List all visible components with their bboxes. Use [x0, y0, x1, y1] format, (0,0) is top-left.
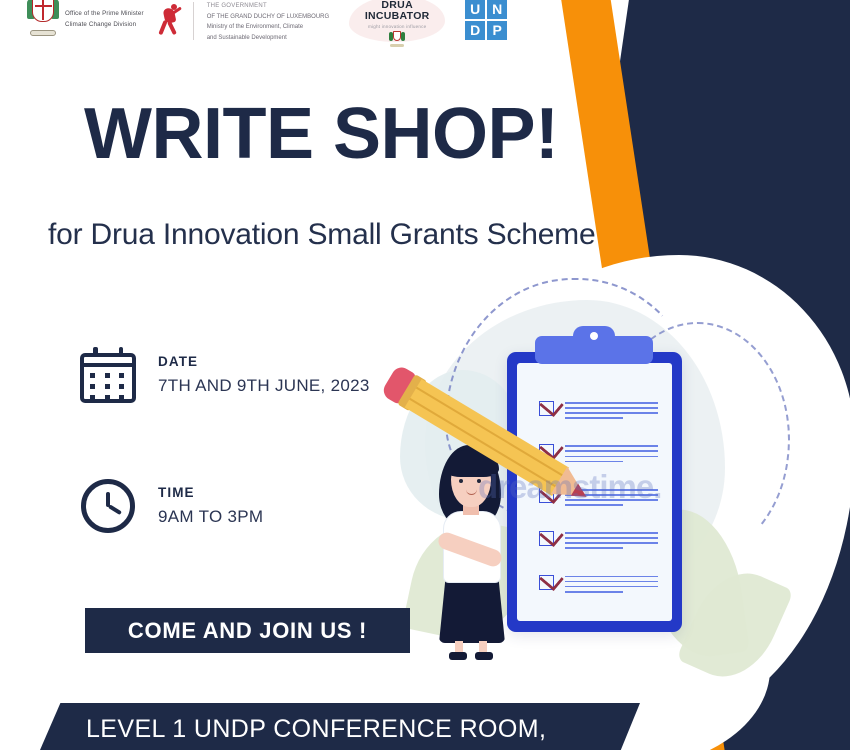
- list-item: [539, 401, 658, 422]
- detail-label-date: DATE: [158, 354, 370, 369]
- poster-canvas: Office of the Prime Minister Climate Cha…: [0, 0, 850, 750]
- undp-letter-grid: U N D P: [465, 0, 507, 40]
- logo-fiji-line2: Climate Change Division: [65, 20, 144, 31]
- logo-fiji-text: Office of the Prime Minister Climate Cha…: [65, 0, 144, 30]
- text-lines-placeholder: [565, 531, 658, 552]
- shoe-right: [475, 652, 493, 660]
- clipboard-clamp: [535, 336, 653, 364]
- logo-undp: U N D P: [465, 0, 507, 40]
- detail-value-time: 9AM TO 3PM: [158, 507, 263, 527]
- clipboard-checklist: [539, 401, 658, 618]
- undp-letter-u: U: [465, 0, 485, 19]
- logo-lux-line2: OF THE GRAND DUCHY OF LUXEMBOURG: [207, 12, 329, 23]
- drua-crest-icon: [389, 31, 405, 47]
- logo-lux-line3: Ministry of the Environment, Climate: [207, 22, 329, 33]
- detail-value-date: 7TH AND 9TH JUNE, 2023: [158, 376, 370, 396]
- detail-row-date: DATE 7TH AND 9TH JUNE, 2023: [80, 347, 370, 403]
- illustration-group: [395, 270, 795, 680]
- join-us-label: COME AND JOIN US !: [128, 618, 367, 644]
- text-lines-placeholder: [565, 401, 658, 422]
- logo-fiji-government: Office of the Prime Minister Climate Cha…: [28, 0, 144, 38]
- logo-drua-incubator: DRUA INCUBATOR might innovation influenc…: [343, 0, 451, 47]
- logo-luxembourg-government: THE GOVERNMENT OF THE GRAND DUCHY OF LUX…: [158, 0, 329, 44]
- text-lines-placeholder: [565, 575, 658, 596]
- partner-logo-strip: Office of the Prime Minister Climate Cha…: [0, 0, 620, 48]
- list-item: [539, 575, 658, 596]
- page-subtitle: for Drua Innovation Small Grants Scheme: [48, 218, 595, 252]
- logo-fiji-line1: Office of the Prime Minister: [65, 9, 144, 20]
- detail-text-time: TIME 9AM TO 3PM: [158, 485, 263, 527]
- logo-luxembourg-text: THE GOVERNMENT OF THE GRAND DUCHY OF LUX…: [207, 0, 329, 44]
- detail-label-time: TIME: [158, 485, 263, 500]
- venue-label: LEVEL 1 UNDP CONFERENCE ROOM,: [86, 715, 546, 744]
- eye-left: [459, 479, 463, 483]
- calendar-icon: [80, 347, 136, 403]
- join-us-banner[interactable]: COME AND JOIN US !: [85, 608, 410, 653]
- logo-lux-line4: and Sustainable Development: [207, 33, 329, 44]
- undp-letter-n: N: [487, 0, 507, 19]
- page-title: WRITE SHOP!: [84, 98, 559, 170]
- fiji-crest-icon: [28, 0, 58, 38]
- eye-right: [477, 479, 481, 483]
- text-lines-placeholder: [565, 444, 658, 465]
- drua-tagline: might innovation influence: [343, 24, 451, 29]
- clock-icon: [80, 478, 136, 534]
- list-item: [539, 531, 658, 552]
- detail-row-time: TIME 9AM TO 3PM: [80, 478, 263, 534]
- shoe-left: [449, 652, 467, 660]
- luxembourg-runner-icon: [158, 2, 184, 42]
- drua-title-line2: INCUBATOR: [343, 11, 451, 22]
- detail-text-date: DATE 7TH AND 9TH JUNE, 2023: [158, 354, 370, 396]
- skirt: [439, 577, 505, 643]
- logo-divider: [193, 2, 194, 40]
- logo-lux-line1: THE GOVERNMENT: [207, 1, 329, 12]
- clipboard-clamp-hole: [590, 332, 598, 340]
- undp-letter-d: D: [465, 21, 485, 40]
- checkmark-icon: [539, 401, 554, 416]
- undp-letter-p: P: [487, 21, 507, 40]
